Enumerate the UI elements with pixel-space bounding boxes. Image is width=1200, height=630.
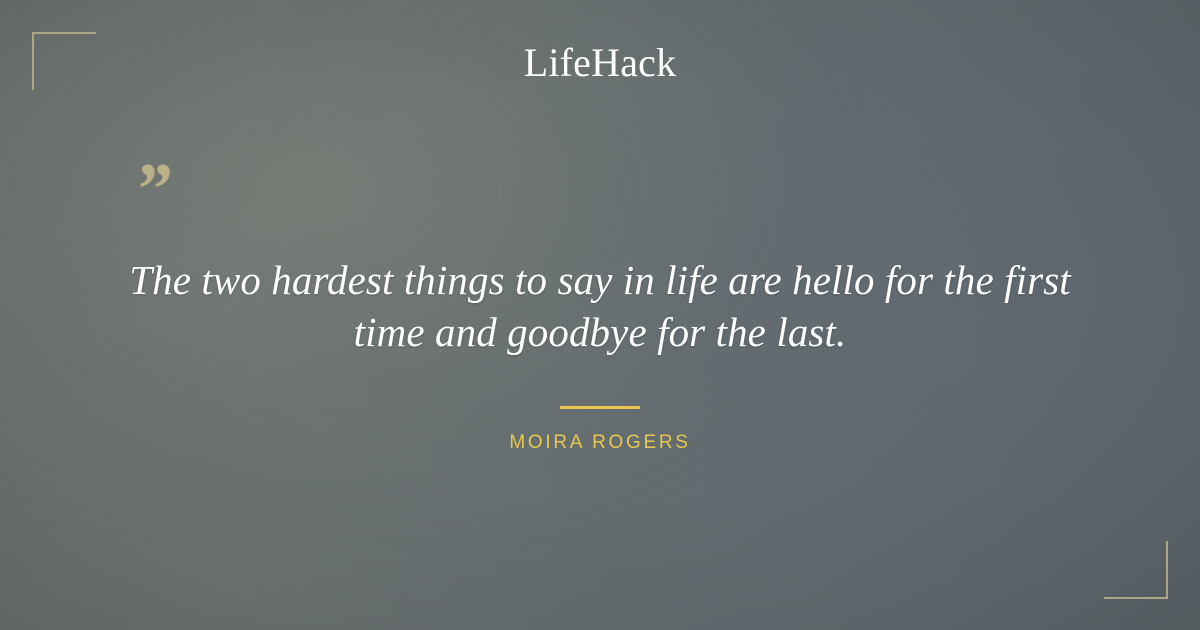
corner-bracket-bottom-right-vertical-line: [1166, 541, 1168, 599]
quote-line-2: time and goodbye for the last.: [354, 309, 847, 355]
gold-divider: [560, 406, 640, 409]
quote-author: MOIRA ROGERS: [100, 431, 1100, 455]
quotation-mark-icon: ”: [134, 170, 1100, 214]
quote-card: LifeHack ” The two hardest things to say…: [0, 0, 1200, 630]
quote-line-1: The two hardest things to say in life ar…: [129, 257, 1071, 303]
quote-block: ” The two hardest things to say in life …: [100, 170, 1100, 455]
corner-bracket-bottom-right-icon: [1104, 541, 1168, 599]
corner-bracket-bottom-right-horizontal-line: [1104, 597, 1168, 599]
quote-text: The two hardest things to say in life ar…: [100, 254, 1100, 358]
corner-bracket-top-left-horizontal-line: [32, 32, 96, 34]
brand-logo: LifeHack: [0, 40, 1200, 86]
